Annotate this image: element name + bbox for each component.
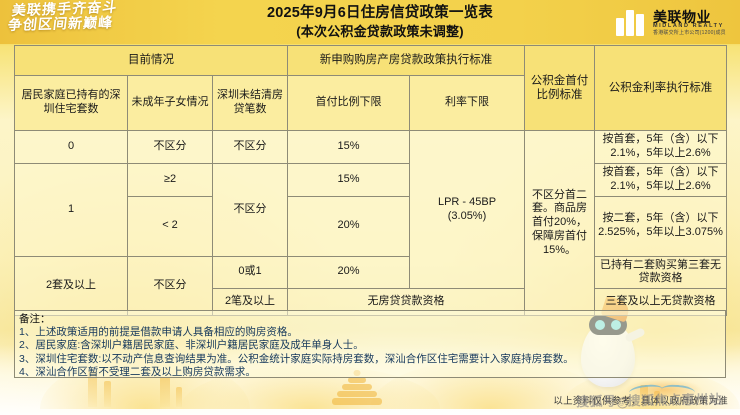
policy-infographic: 美联携手齐奋斗 争创区间新巅峰 2025年9月6日住房信贷政策一览表 (本次公积… xyxy=(0,0,740,415)
rate-floor-line-1: LPR - 45BP xyxy=(412,196,522,210)
title-subtitle: (本次公积金贷款政策未调整) xyxy=(160,23,600,41)
cell-downpayment-floor: 15% xyxy=(288,164,410,197)
watermark-prefix: 搜狐号 xyxy=(576,394,617,410)
midland-logo-icon xyxy=(616,10,648,36)
sub-header-minor-children: 未成年子女情况 xyxy=(128,76,213,131)
notes-box: 备注： 1、上述政策适用的前提是借款申请人具备相应的购房资格。 2、居民家庭:含… xyxy=(14,310,726,378)
table-row: 0 不区分 不区分 15% LPR - 45BP (3.05%) 不区分首二套。… xyxy=(15,131,727,164)
cell-owned-units: 2套及以上 xyxy=(15,256,128,316)
watermark-at-icon: @ xyxy=(616,397,627,408)
cell-unsettled-loans: 不区分 xyxy=(213,164,288,257)
cell-fund-rate: 按首套，5年（含）以下2.1%，5年以上2.6% xyxy=(595,164,727,197)
decorative-building xyxy=(176,387,182,407)
calligraphy-line-2: 争创区间新巅峰 xyxy=(7,15,149,33)
notes-title: 备注： xyxy=(19,313,721,326)
cell-fund-rate: 按首套，5年（含）以下2.1%，5年以上2.6% xyxy=(595,131,727,164)
logo-listing-note: 香港联交所上市公司(1200)成员 xyxy=(653,31,726,36)
table-group-header-row: 目前情况 新申购购房产房贷款政策执行标准 公积金首付比例标准 公积金利率执行标准 xyxy=(15,46,727,76)
cell-fund-downpayment-merged: 不区分首二套。商品房首付20%，保障房首付15%。 xyxy=(525,131,595,316)
group-header-new-purchase: 新申购购房产房贷款政策执行标准 xyxy=(288,46,525,76)
cell-downpayment-floor: 15% xyxy=(288,131,410,164)
note-item-2: 2、居民家庭:含深圳户籍居民家庭、非深圳户籍居民家庭及成年单身人士。 xyxy=(19,339,721,352)
cell-unsettled-loans: 0或1 xyxy=(213,256,288,289)
cell-fund-rate: 已持有二套购买第三套无贷款资格 xyxy=(595,256,727,289)
sub-header-rate-floor: 利率下限 xyxy=(410,76,525,131)
decorative-building xyxy=(160,377,170,407)
cell-fund-rate: 按二套，5年（含）以下2.525%，5年以上3.075% xyxy=(595,196,727,256)
rate-floor-line-2: (3.05%) xyxy=(412,210,522,224)
cell-minor-children: 不区分 xyxy=(128,256,213,316)
note-item-1: 1、上述政策适用的前提是借款申请人具备相应的购房资格。 xyxy=(19,326,721,339)
cell-minor-children: 不区分 xyxy=(128,131,213,164)
decorative-building xyxy=(104,381,111,407)
group-header-fund-rate: 公积金利率执行标准 xyxy=(595,46,727,131)
policy-table-wrap: 目前情况 新申购购房产房贷款政策执行标准 公积金首付比例标准 公积金利率执行标准… xyxy=(14,45,726,316)
title-main: 2025年9月6日住房信贷政策一览表 xyxy=(160,4,600,22)
header-band: 美联携手齐奋斗 争创区间新巅峰 2025年9月6日住房信贷政策一览表 (本次公积… xyxy=(0,0,740,44)
cell-owned-units: 0 xyxy=(15,131,128,164)
sub-header-unsettled-loans: 深圳未结清房贷笔数 xyxy=(213,76,288,131)
calligraphy-slogan: 美联携手齐奋斗 争创区间新巅峰 xyxy=(8,2,148,46)
cell-minor-children: ≥2 xyxy=(128,164,213,197)
page-title: 2025年9月6日住房信贷政策一览表 (本次公积金贷款政策未调整) xyxy=(160,4,600,41)
table-row: 2套及以上 不区分 0或1 20% 已持有二套购买第三套无贷款资格 xyxy=(15,256,727,289)
group-header-fund-downpayment: 公积金首付比例标准 xyxy=(525,46,595,131)
policy-table: 目前情况 新申购购房产房贷款政策执行标准 公积金首付比例标准 公积金利率执行标准… xyxy=(14,45,727,316)
cell-unsettled-loans: 不区分 xyxy=(213,131,288,164)
sub-header-owned-units: 居民家庭已持有的深圳住宅套数 xyxy=(15,76,128,131)
cell-rate-floor-merged: LPR - 45BP (3.05%) xyxy=(410,131,525,289)
sub-header-downpayment-floor: 首付比例下限 xyxy=(288,76,410,131)
logo-name-cn: 美联物业 xyxy=(653,10,726,25)
watermark: 搜狐号@搜狐焦点惠州站 xyxy=(576,389,722,411)
cell-minor-children: < 2 xyxy=(128,196,213,256)
company-logo: 美联物业 MIDLAND REALTY 香港联交所上市公司(1200)成员 xyxy=(616,4,734,42)
cell-downpayment-floor: 20% xyxy=(288,196,410,256)
table-row: 1 ≥2 不区分 15% 按首套，5年（含）以下2.1%，5年以上2.6% xyxy=(15,164,727,197)
note-item-4: 4、深汕合作区暂不受理二套及以上购房贷款需求。 xyxy=(19,366,721,379)
note-item-3: 3、深圳住宅套数:以不动产信息查询结果为准。公积金统计家庭实际持房套数，深汕合作… xyxy=(19,353,721,366)
group-header-current-status: 目前情况 xyxy=(15,46,288,76)
cell-owned-units: 1 xyxy=(15,164,128,257)
watermark-suffix: 搜狐焦点惠州站 xyxy=(627,392,722,409)
cell-downpayment-floor: 20% xyxy=(288,256,410,289)
